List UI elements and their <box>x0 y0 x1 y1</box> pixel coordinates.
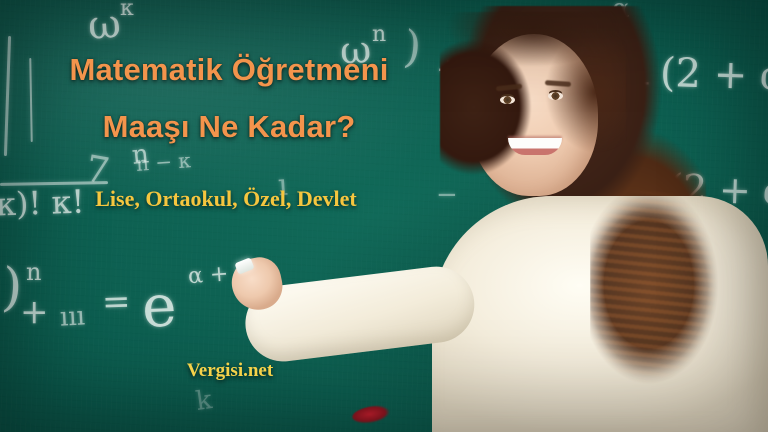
site-watermark: Vergisi.net <box>0 360 460 382</box>
headline-line-2: Maaşı Ne Kadar? <box>0 109 458 145</box>
headline-line-1: Matematik Öğretmeni <box>0 52 458 88</box>
subheadline: Lise, Ortaokul, Özel, Devlet <box>0 186 452 212</box>
thumbnail-image: ωκωn)+ωα1+(2 + ω(2 + ωnn − κ7κ)! κ!)n+ıı… <box>0 0 768 432</box>
